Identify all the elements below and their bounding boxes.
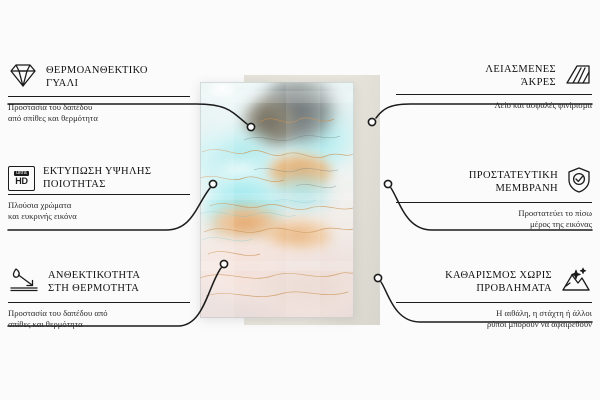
- feature-divider: [396, 94, 592, 95]
- feature-desc-line2: μέρος της εικόνας: [530, 219, 592, 229]
- feature-desc-line2: από σπίθες και θερμότητα: [8, 113, 98, 123]
- feature-title-line2: ΠΡΟΒΛΗΜΑΤΑ: [476, 283, 552, 294]
- feature-title-line2: ΠΟΙΟΤΗΤΑΣ: [43, 179, 106, 190]
- feature-title-line2: ΆΚΡΕΣ: [521, 77, 556, 88]
- feature-title-line1: ΚΑΘΑΡΙΣΜΟΣ ΧΩΡΙΣ: [445, 270, 552, 281]
- diamond-icon: [8, 62, 38, 93]
- callout-dot-right-top: [368, 118, 375, 125]
- shield-check-icon: [566, 166, 592, 199]
- feature-title-line2: ΣΤΗ ΘΕΡΜΟΤΗΤΑ: [48, 283, 139, 294]
- feature-desc-line1: Πλούσια χρώματα: [8, 200, 71, 210]
- callout-dot-right-mid: [384, 180, 391, 187]
- feature-divider: [396, 302, 592, 303]
- ultra-hd-icon: ultra HD: [8, 166, 35, 191]
- feature-heat-resistant-glass: ΘΕΡΜΟΑΝΘΕΚΤΙΚΟ ΓΥΑΛΙ Προστασία του δαπέδ…: [8, 62, 190, 123]
- callout-dot-left-bottom: [220, 260, 227, 267]
- feature-desc-line1: Προστασία του δαπέδου: [8, 102, 92, 112]
- feature-desc-line2: σπίθες και θερμότητα: [8, 319, 83, 329]
- feature-title-line1: ΑΝΘΕΚΤΙΚΟΤΗΤΑ: [48, 270, 140, 281]
- feature-desc-line1: Η αιθάλη, η στάχτη ή άλλοι: [496, 308, 592, 318]
- feature-title-line2: ΓΥΑΛΙ: [46, 78, 78, 89]
- feature-divider: [8, 96, 190, 97]
- feature-title-line2: ΜΕΜΒΡΑΝΗ: [495, 183, 558, 194]
- feature-title-line1: ΛΕΙΑΣΜΕΝΕΣ: [485, 64, 556, 75]
- feature-polished-edges: ΛΕΙΑΣΜΕΝΕΣ ΆΚΡΕΣ Λείο και ασφαλές φινίρι…: [396, 62, 592, 111]
- infographic-stage: ΘΕΡΜΟΑΝΘΕΚΤΙΚΟ ΓΥΑΛΙ Προστασία του δαπέδ…: [0, 0, 600, 400]
- feature-divider: [8, 194, 190, 195]
- feature-heat-durability: ΑΝΘΕΚΤΙΚΟΤΗΤΑ ΣΤΗ ΘΕΡΜΟΤΗΤΑ Προστασία το…: [8, 266, 190, 329]
- feature-divider: [8, 302, 190, 303]
- ultra-hd-badge-bottom: HD: [15, 177, 28, 186]
- feature-easy-cleaning: ΚΑΘΑΡΙΣΜΟΣ ΧΩΡΙΣ ΠΡΟΒΛΗΜΑΤΑ Η αιθάλη, η …: [396, 266, 592, 329]
- feature-desc-line1: Προστασία του δαπέδου από: [8, 308, 108, 318]
- feature-title-line1: ΘΕΡΜΟΑΝΘΕΚΤΙΚΟ: [46, 65, 148, 76]
- feature-desc-line1: Προστατεύει το πίσω: [518, 208, 592, 218]
- feature-desc-line2: ρύποι μπορούν να αφαιρεθούν: [487, 319, 592, 329]
- feature-title-line1: ΠΡΟΣΤΑΤΕΥΤΙΚΗ: [469, 170, 558, 181]
- easy-cleaning-icon: [560, 266, 592, 299]
- heat-resistance-icon: [8, 266, 40, 299]
- callout-dot-left-mid: [209, 180, 216, 187]
- feature-protective-film: ΠΡΟΣΤΑΤΕΥΤΙΚΗ ΜΕΜΒΡΑΝΗ Προστατεύει το πί…: [396, 166, 592, 229]
- callout-dot-left-top: [247, 123, 254, 130]
- feature-desc-line2: και ευκρινής εικόνα: [8, 211, 77, 221]
- callout-dot-right-bottom: [374, 274, 381, 281]
- feature-divider: [396, 202, 592, 203]
- feature-desc-line1: Λείο και ασφαλές φινίρισμα: [494, 100, 592, 110]
- polished-edges-icon: [564, 62, 592, 91]
- feature-high-quality-print: ultra HD ΕΚΤΥΠΩΣΗ ΥΨΗΛΗΣ ΠΟΙΟΤΗΤΑΣ Πλούσ…: [8, 166, 190, 221]
- feature-title-line1: ΕΚΤΥΠΩΣΗ ΥΨΗΛΗΣ: [43, 166, 151, 177]
